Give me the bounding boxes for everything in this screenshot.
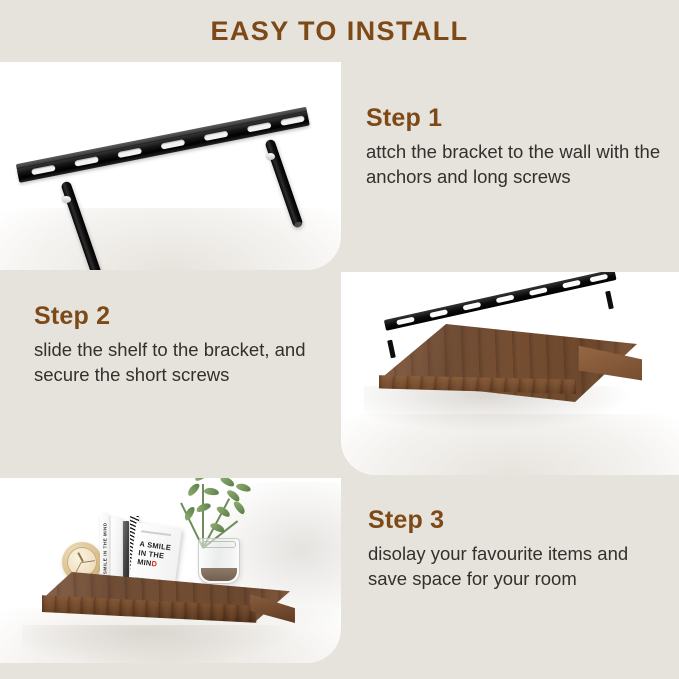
bracket-slot <box>280 115 305 126</box>
plant-leaf <box>204 487 220 496</box>
clock-second-hand <box>75 562 82 573</box>
step-2-image-panel <box>341 272 679 475</box>
mounted-wood-shelf <box>42 572 290 652</box>
bracket-screw <box>266 153 275 160</box>
bracket-slot <box>31 165 56 176</box>
step-2-heading: Step 2 <box>34 302 314 331</box>
plant-leaf <box>186 482 201 498</box>
step-2-text: Step 2 slide the shelf to the bracket, a… <box>34 302 314 387</box>
bracket-slot <box>161 139 186 150</box>
bracket-slot <box>529 287 548 296</box>
step-2-body: slide the shelf to the bracket, and secu… <box>34 337 314 387</box>
plant-leaf <box>193 478 209 483</box>
wall-bracket-graphic <box>18 122 328 252</box>
bracket-slot <box>247 122 272 133</box>
step-1-text: Step 1 attch the bracket to the wall wit… <box>366 104 666 189</box>
plant-leaf <box>183 505 197 521</box>
bracket-foot <box>605 291 614 310</box>
page-title: EASY TO INSTALL <box>0 16 679 47</box>
shelf-shadow <box>22 625 300 663</box>
step-1-image-panel <box>0 62 341 270</box>
wood-shelf-board <box>379 324 637 424</box>
plant-leaf <box>219 478 236 488</box>
plant-leaf <box>235 482 251 493</box>
bracket-slot <box>429 309 448 318</box>
front-book-title: A SMILE IN THE MIND <box>137 539 174 570</box>
step-1-body: attch the bracket to the wall with the a… <box>366 139 666 189</box>
bracket-slot <box>589 274 608 283</box>
bracket-slot <box>117 148 142 159</box>
clock-minute-hand <box>82 560 95 563</box>
bracket-slot <box>74 156 99 167</box>
step-1-heading: Step 1 <box>366 104 666 133</box>
bracket-slot <box>463 302 482 311</box>
front-book-rule <box>141 530 171 536</box>
bracket-screw <box>62 196 71 203</box>
plant-leaf <box>232 499 247 515</box>
front-book-title-accent: D <box>151 559 158 569</box>
jar-rim <box>202 541 236 548</box>
bracket-support-rod <box>264 138 303 228</box>
step-3-text: Step 3 disolay your favourite items and … <box>368 506 668 591</box>
step-3-heading: Step 3 <box>368 506 668 535</box>
bracket-slot <box>562 280 581 289</box>
infographic-page: EASY TO INSTALL Step 1 attch the bracket <box>0 0 679 679</box>
step-3-image-panel: A SMILE IN THE MIND A SMILE IN THE MIND … <box>0 478 341 663</box>
step-3-body: disolay your favourite items and save sp… <box>368 541 668 591</box>
bracket-slot <box>204 131 229 142</box>
bracket-slot <box>496 294 515 303</box>
